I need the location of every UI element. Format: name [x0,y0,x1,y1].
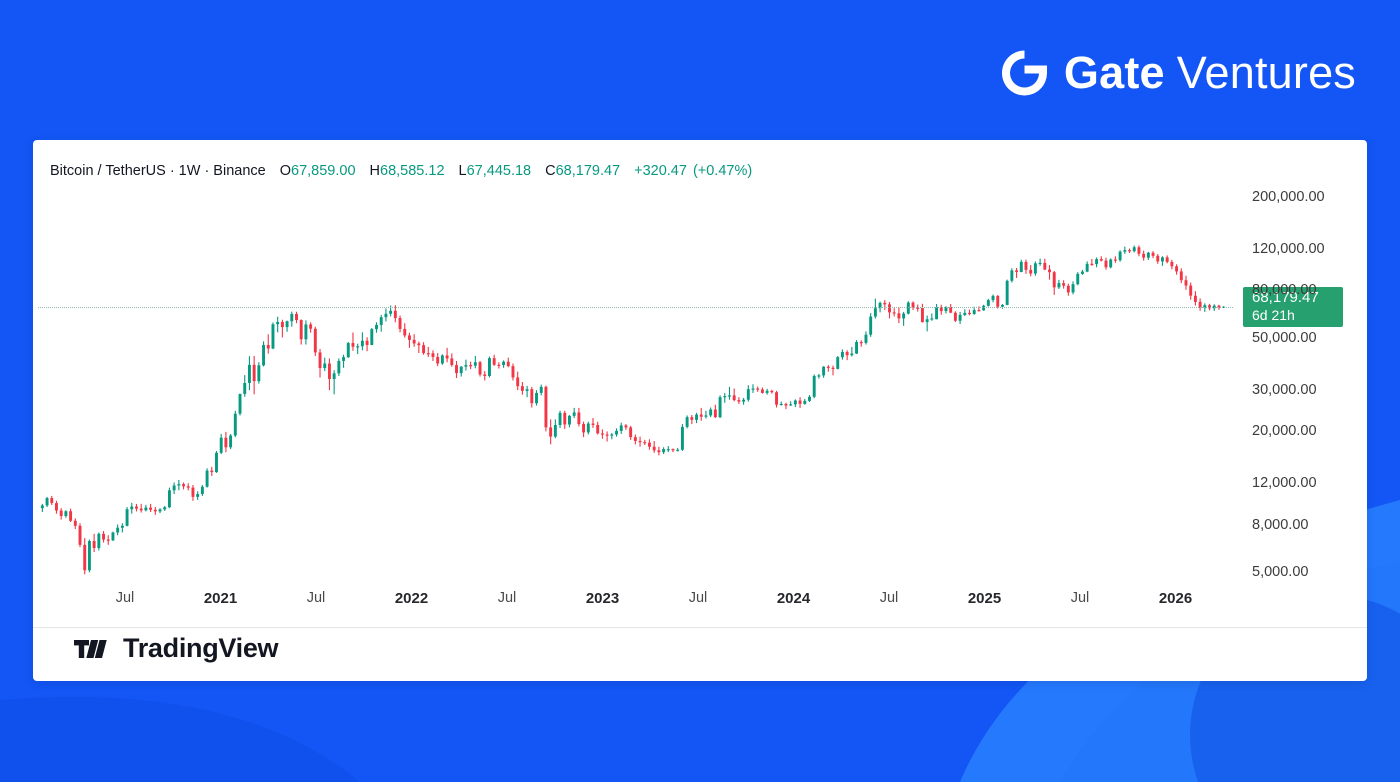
legend-change-absolute: +320.47 [634,163,687,179]
price-tick-label: 30,000.00 [1252,382,1317,398]
tradingview-attribution[interactable]: TradingView [74,633,278,664]
time-tick-label: 2022 [395,590,428,607]
legend-open-label: O [280,163,291,179]
brand-name-secondary: Ventures [1177,47,1356,99]
time-axis[interactable]: Jul2021Jul2022Jul2023Jul2024Jul2025Jul20… [33,590,1233,620]
time-tick-label: Jul [689,590,708,606]
price-tick-label: 120,000.00 [1252,241,1325,257]
candlestick-plot[interactable] [33,190,1233,590]
price-axis[interactable]: 68,179.47 6d 21h 200,000.00120,000.0080,… [1238,140,1367,610]
price-tick-label: 8,000.00 [1252,517,1308,533]
legend-low-label: L [459,163,467,179]
price-tick-label: 12,000.00 [1252,475,1317,491]
legend-close-label: C [545,163,555,179]
legend-low: L67,445.18 [459,163,532,179]
legend-high: H68,585.12 [370,163,445,179]
tradingview-label: TradingView [123,633,278,664]
legend-close-value: 68,179.47 [556,163,621,179]
time-tick-label: 2026 [1159,590,1192,607]
bar-countdown: 6d 21h [1252,307,1343,324]
chart-card: Bitcoin / TetherUS · 1W · Binance O67,85… [33,140,1367,681]
time-tick-label: Jul [880,590,899,606]
price-tick-label: 5,000.00 [1252,564,1308,580]
price-tick-label: 80,000.00 [1252,282,1317,298]
legend-change-percent: (+0.47%) [693,163,752,179]
time-tick-label: Jul [116,590,135,606]
time-tick-label: 2024 [777,590,810,607]
legend-low-value: 67,445.18 [467,163,532,179]
time-tick-label: Jul [307,590,326,606]
tradingview-logo-icon [74,637,110,661]
current-price-line [38,307,1233,309]
legend-open-value: 67,859.00 [291,163,356,179]
price-tick-label: 20,000.00 [1252,423,1317,439]
time-tick-label: 2021 [204,590,237,607]
candlestick-series [33,190,1233,590]
brand-name-primary: Gate [1064,47,1165,99]
legend-close: C68,179.47 [545,163,620,179]
chart-legend[interactable]: Bitcoin / TetherUS · 1W · Binance O67,85… [50,163,752,179]
legend-high-label: H [370,163,380,179]
time-tick-label: Jul [1071,590,1090,606]
price-tick-label: 50,000.00 [1252,330,1317,346]
brand-text: Gate Ventures [1064,47,1356,99]
legend-high-value: 68,585.12 [380,163,445,179]
legend-open: O67,859.00 [280,163,356,179]
legend-symbol: Bitcoin / TetherUS · 1W · Binance [50,163,266,179]
axis-separator [33,627,1367,628]
price-tick-label: 200,000.00 [1252,189,1325,205]
time-tick-label: 2023 [586,590,619,607]
time-tick-label: Jul [498,590,517,606]
gate-ring-icon [998,47,1050,99]
brand-lockup: Gate Ventures [998,44,1356,102]
time-tick-label: 2025 [968,590,1001,607]
